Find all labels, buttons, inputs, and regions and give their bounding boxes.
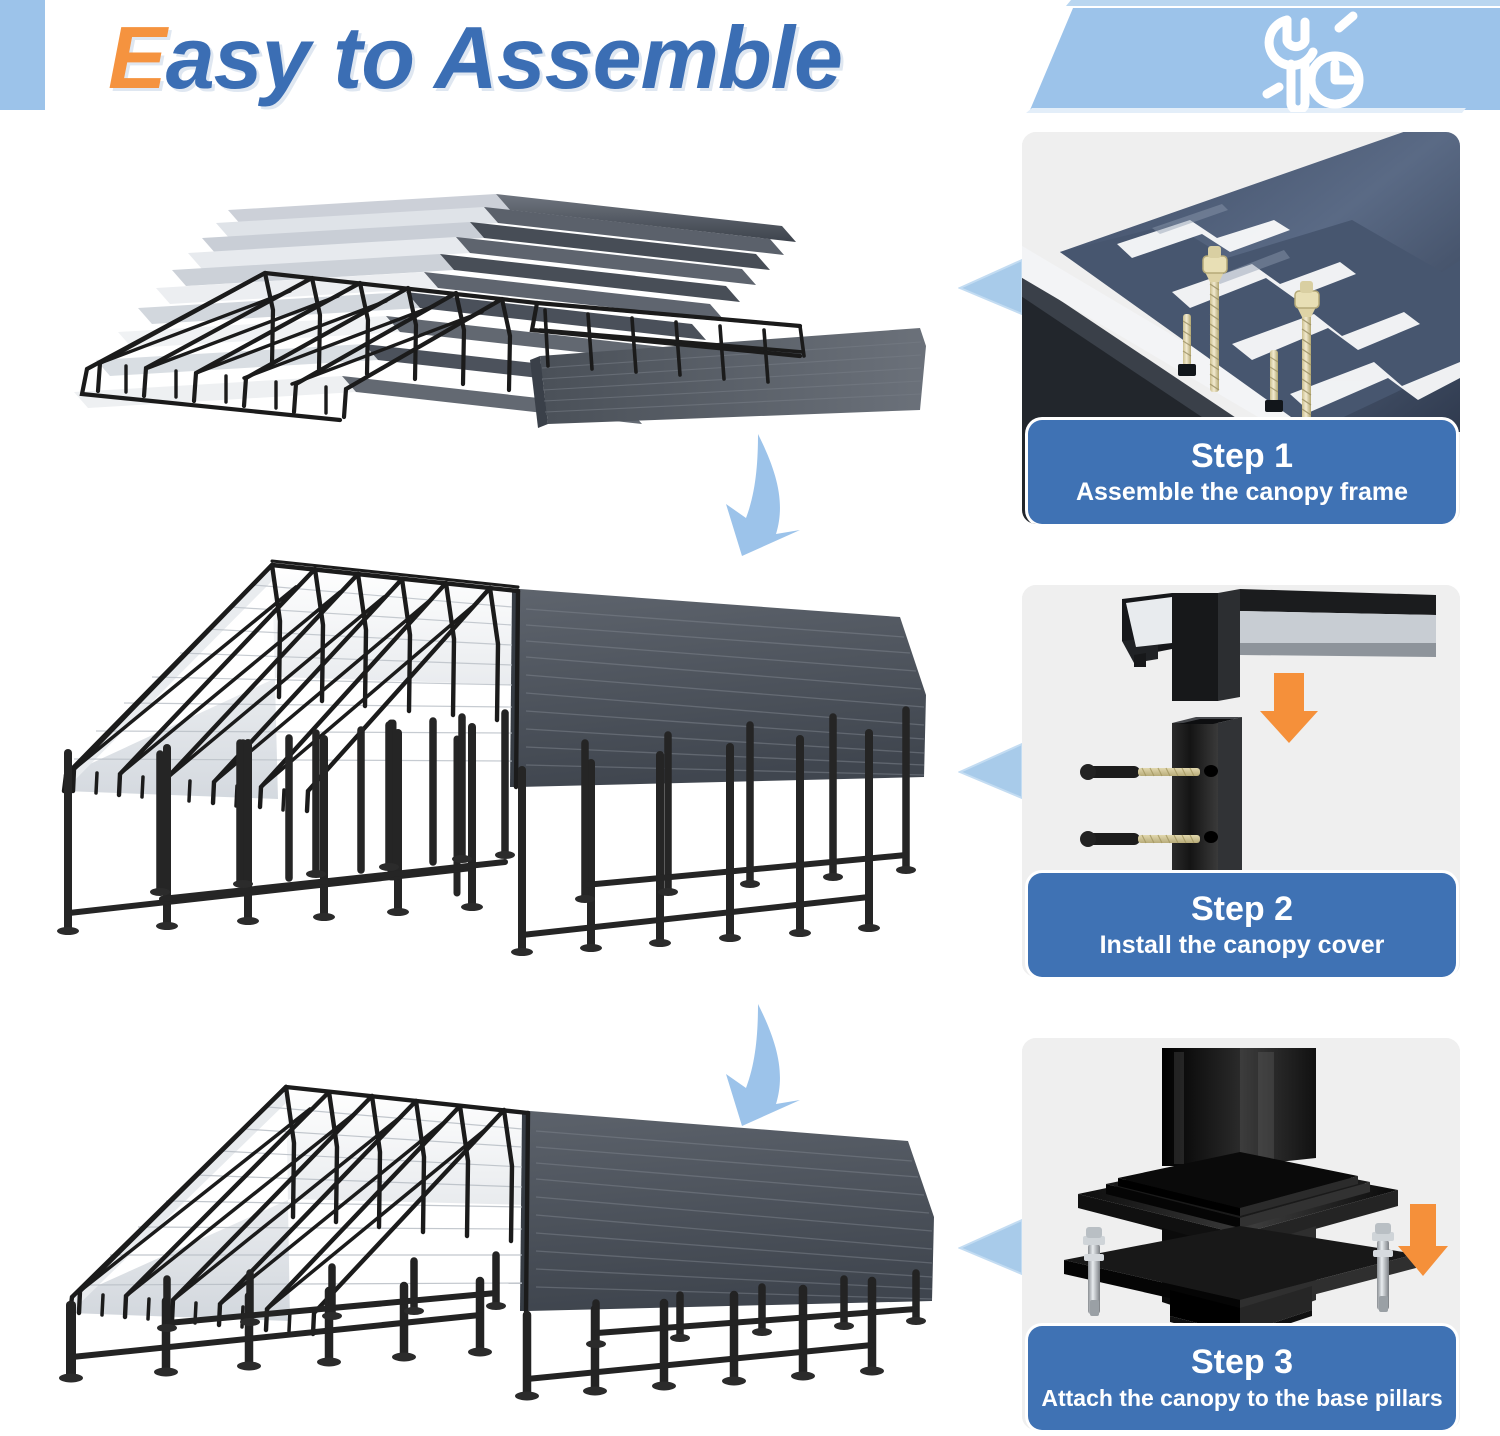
step-desc-3: Attach the canopy to the base pillars [1041, 1382, 1442, 1414]
illustration-fully-assembled-carport [40, 1065, 960, 1425]
step-title-2: Step 2 [1191, 889, 1293, 929]
page-title: Easy to Assemble [108, 6, 842, 110]
step-desc-1: Assemble the canopy frame [1076, 476, 1408, 508]
page-title-accent: E [108, 8, 166, 107]
step-card-1[interactable]: Step 1 Assemble the canopy frame [1022, 132, 1460, 524]
illustration-canopy-roof-above-post-array [40, 525, 960, 980]
step-card-3[interactable]: Step 3 Attach the canopy to the base pil… [1022, 1038, 1460, 1430]
step-label-3: Step 3 Attach the canopy to the base pil… [1028, 1326, 1456, 1430]
step-title-1: Step 1 [1191, 436, 1293, 476]
header-left-blue-bar [0, 0, 45, 110]
wrench-clock-icon [1243, 8, 1371, 112]
left-pointer-triangle-1 [958, 258, 1024, 316]
page-header: Easy to Assemble [0, 0, 1500, 125]
step-title-3: Step 3 [1191, 1342, 1293, 1382]
page-title-rest: asy to Assemble [166, 8, 842, 107]
step-desc-2: Install the canopy cover [1100, 929, 1385, 961]
left-pointer-triangle-2 [958, 742, 1024, 800]
step-card-2[interactable]: Step 2 Install the canopy cover [1022, 585, 1460, 977]
left-pointer-triangle-3 [958, 1218, 1024, 1276]
step-label-1: Step 1 Assemble the canopy frame [1028, 420, 1456, 524]
header-banner-top-line [1066, 0, 1500, 6]
illustration-exploded-roof-panels-and-frame [40, 160, 960, 460]
step-label-2: Step 2 Install the canopy cover [1028, 873, 1456, 977]
